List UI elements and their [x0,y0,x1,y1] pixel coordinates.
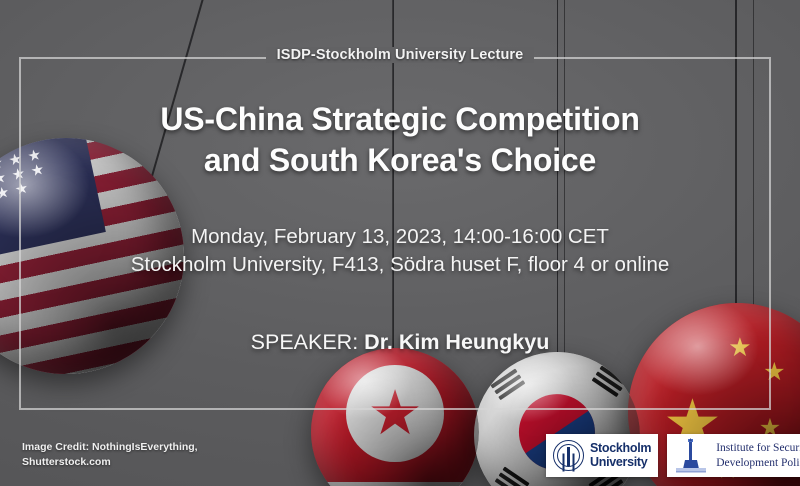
logo-row: Stockholm University Institute for Secu [546,434,800,477]
title-line-1: US-China Strategic Competition [0,99,800,140]
su-line-1: Stockholm [590,442,651,455]
stockholm-university-wordmark: Stockholm University [590,442,651,469]
image-credit-line-2: Shutterstock.com [22,455,198,470]
event-venue: Stockholm University, F413, Södra huset … [0,251,800,279]
speaker-label: SPEAKER: [251,330,359,354]
speaker-line: SPEAKER: Dr. Kim Heungkyu [0,330,800,355]
lecture-series-label: ISDP-Stockholm University Lecture [266,47,535,63]
eyebrow-row: ISDP-Stockholm University Lecture [0,47,800,63]
university-seal-icon [553,440,584,471]
event-datetime: Monday, February 13, 2023, 14:00-16:00 C… [0,223,800,251]
isdp-wordmark: Institute for Security & Development Pol… [716,441,800,470]
image-credit: Image Credit: NothingIsEverything, Shutt… [22,440,198,470]
su-line-2: University [590,456,651,469]
page-title: US-China Strategic Competition and South… [0,99,800,181]
event-details: Monday, February 13, 2023, 14:00-16:00 C… [0,223,800,280]
isdp-line-1: Institute for Security & [716,441,800,456]
isdp-logo[interactable]: Institute for Security & Development Pol… [667,434,800,477]
speaker-name: Dr. Kim Heungkyu [364,330,549,354]
tower-monument-icon [674,438,708,473]
stockholm-university-logo[interactable]: Stockholm University [546,434,658,477]
lecture-poster: ★★★★★★★★★★★★★★★★★★★★ ★ ★ ★ ★ ★ ★ [0,0,800,486]
image-credit-line-1: Image Credit: NothingIsEverything, [22,440,198,455]
title-line-2: and South Korea's Choice [0,140,800,181]
isdp-line-2: Development Policy [716,456,800,471]
